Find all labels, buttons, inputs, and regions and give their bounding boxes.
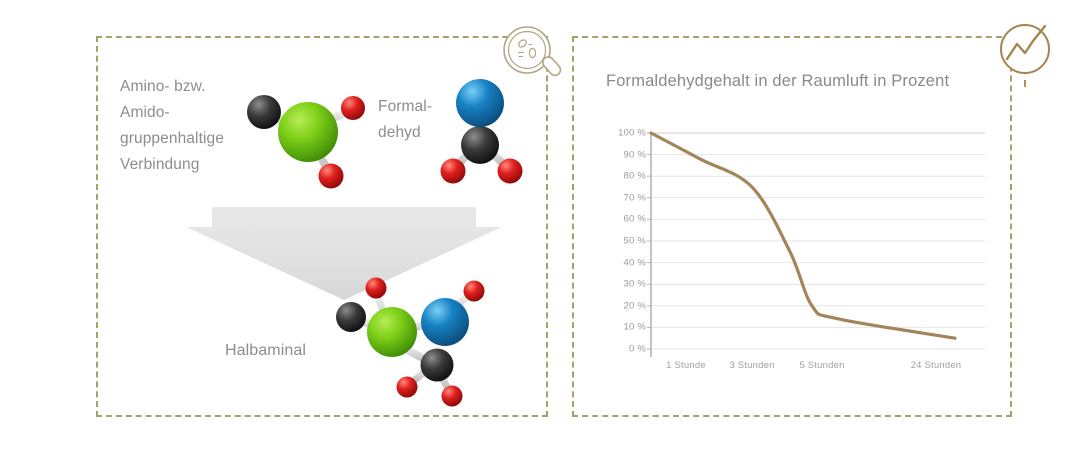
x-axis-tick-label: 24 Stunden	[911, 360, 962, 371]
data-line-formaldehyd	[651, 133, 955, 338]
x-axis-tick-label: 5 Stunden	[799, 360, 844, 371]
x-axis-tick-label: 1 Stunde	[666, 360, 706, 371]
x-axis-tick-label: 3 Stunden	[729, 360, 774, 371]
infographic-canvas: Amino- bzw. Amido- gruppenhaltige Verbin…	[0, 0, 1080, 462]
chart-plot-area	[0, 0, 1080, 462]
